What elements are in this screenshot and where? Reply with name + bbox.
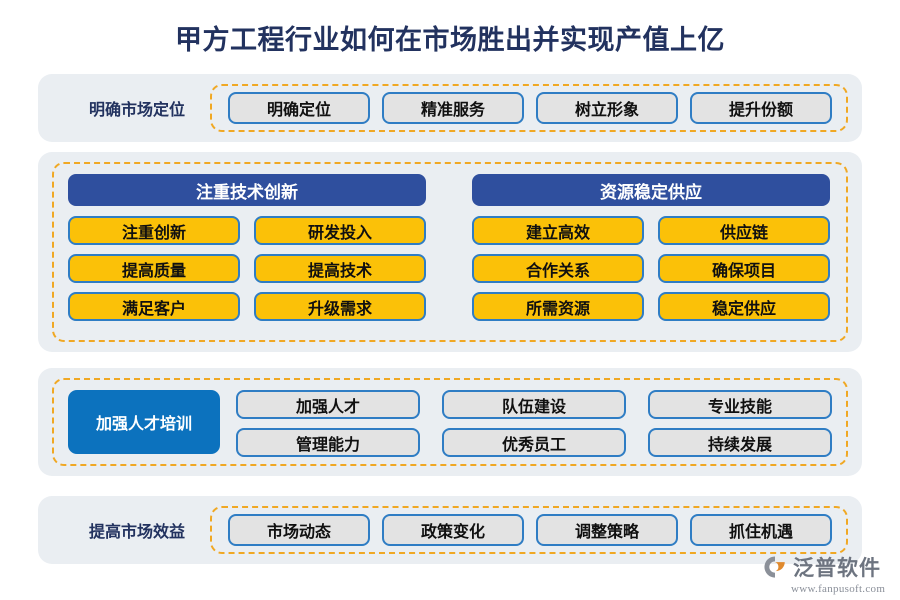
tile-ti-gao-zhi-liang[interactable]: 提高质量 (68, 254, 240, 283)
tile-he-zuo-guan-xi[interactable]: 合作关系 (472, 254, 644, 283)
pill-jing-zhun-fu-wu[interactable]: 精准服务 (382, 92, 524, 124)
fanpu-logo-icon (762, 554, 788, 580)
tile-grid-tech-innovation: 注重创新 研发投入 提高质量 提高技术 满足客户 升级需求 (68, 216, 426, 321)
stage-label-market-positioning: 明确市场定位 (62, 74, 212, 142)
pill-zhua-zhu-ji-yu[interactable]: 抓住机遇 (690, 514, 832, 546)
tile-wen-ding-gong-ying[interactable]: 稳定供应 (658, 292, 830, 321)
tile-suo-xu-zi-yuan[interactable]: 所需资源 (472, 292, 644, 321)
tile-zhu-zhong-chuang-xin[interactable]: 注重创新 (68, 216, 240, 245)
pill-shu-li-xing-xiang[interactable]: 树立形象 (536, 92, 678, 124)
section-talent-training: 加强人才培训 加强人才 队伍建设 专业技能 管理能力 优秀员工 持续发展 (38, 368, 862, 476)
tile-jian-li-gao-xiao[interactable]: 建立高效 (472, 216, 644, 245)
tile-yan-fa-tou-ru[interactable]: 研发投入 (254, 216, 426, 245)
brand-logo: 泛普软件 www.fanpusoft.com (762, 552, 892, 596)
pill-grid-talent-training: 加强人才 队伍建设 专业技能 管理能力 优秀员工 持续发展 (236, 390, 832, 457)
pill-you-xiu-yuan-gong[interactable]: 优秀员工 (442, 428, 626, 457)
section-market-benefit: 提高市场效益 市场动态 政策变化 调整策略 抓住机遇 (38, 496, 862, 564)
infographic-page: 甲方工程行业如何在市场胜出并实现产值上亿 明确市场定位 明确定位 精准服务 树立… (0, 0, 900, 600)
pill-jia-qiang-ren-cai[interactable]: 加强人才 (236, 390, 420, 419)
column-header-resource-supply: 资源稳定供应 (472, 174, 830, 206)
section-market-positioning: 明确市场定位 明确定位 精准服务 树立形象 提升份额 (38, 74, 862, 142)
pill-ti-sheng-fen-e[interactable]: 提升份额 (690, 92, 832, 124)
tile-sheng-ji-xu-qiu[interactable]: 升级需求 (254, 292, 426, 321)
pill-row-market-positioning: 明确定位 精准服务 树立形象 提升份额 (228, 92, 832, 124)
brand-logo-row: 泛普软件 (762, 552, 881, 582)
pill-zhuan-ye-ji-neng[interactable]: 专业技能 (648, 390, 832, 419)
pill-shi-chang-dong-tai[interactable]: 市场动态 (228, 514, 370, 546)
column-resource-supply: 资源稳定供应 建立高效 供应链 合作关系 确保项目 所需资源 稳定供应 (472, 174, 830, 321)
section-innovation-and-supply: 注重技术创新 注重创新 研发投入 提高质量 提高技术 满足客户 升级需求 资源稳… (38, 152, 862, 352)
tile-gong-ying-lian[interactable]: 供应链 (658, 216, 830, 245)
page-title: 甲方工程行业如何在市场胜出并实现产值上亿 (0, 22, 900, 58)
pill-chi-xu-fa-zhan[interactable]: 持续发展 (648, 428, 832, 457)
talent-training-box[interactable]: 加强人才培训 (68, 390, 220, 454)
tile-man-zu-ke-hu[interactable]: 满足客户 (68, 292, 240, 321)
tile-que-bao-xiang-mu[interactable]: 确保项目 (658, 254, 830, 283)
column-tech-innovation: 注重技术创新 注重创新 研发投入 提高质量 提高技术 满足客户 升级需求 (68, 174, 426, 321)
brand-logo-url: www.fanpusoft.com (791, 583, 885, 595)
pill-ming-que-ding-wei[interactable]: 明确定位 (228, 92, 370, 124)
pill-zheng-ce-bian-hua[interactable]: 政策变化 (382, 514, 524, 546)
column-header-tech-innovation: 注重技术创新 (68, 174, 426, 206)
tile-grid-resource-supply: 建立高效 供应链 合作关系 确保项目 所需资源 稳定供应 (472, 216, 830, 321)
pill-dui-wu-jian-she[interactable]: 队伍建设 (442, 390, 626, 419)
tile-ti-gao-ji-shu[interactable]: 提高技术 (254, 254, 426, 283)
pill-row-market-benefit: 市场动态 政策变化 调整策略 抓住机遇 (228, 514, 832, 546)
brand-logo-name: 泛普软件 (793, 552, 881, 582)
pill-guan-li-neng-li[interactable]: 管理能力 (236, 428, 420, 457)
stage-label-market-benefit: 提高市场效益 (62, 496, 212, 564)
pill-tiao-zheng-ce-lue[interactable]: 调整策略 (536, 514, 678, 546)
